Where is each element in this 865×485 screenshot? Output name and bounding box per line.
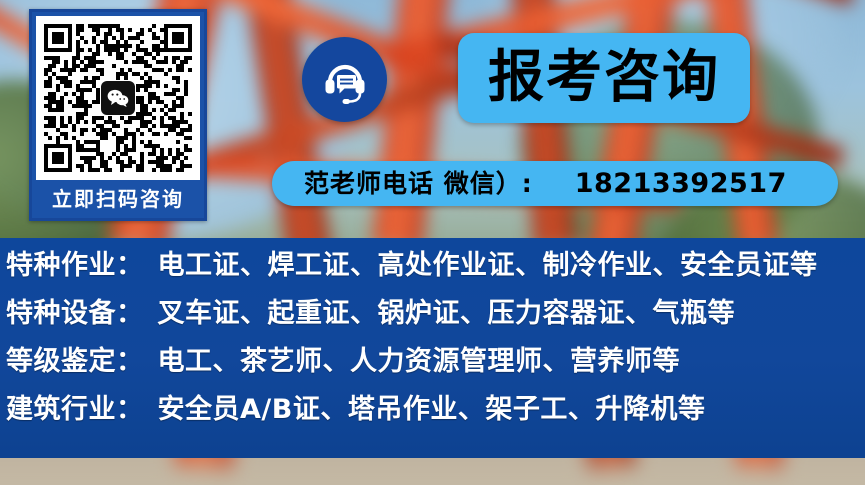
info-row: 特种作业： 电工证、焊工证、高处作业证、制冷作业、安全员证等 bbox=[0, 252, 865, 300]
info-row-items: 叉车证、起重证、锅炉证、压力容器证、气瓶等 bbox=[158, 300, 736, 327]
headset-support-icon bbox=[302, 37, 387, 122]
wechat-icon bbox=[101, 81, 135, 115]
info-row-items: 电工证、焊工证、高处作业证、制冷作业、安全员证等 bbox=[158, 252, 818, 279]
info-row: 建筑行业： 安全员A/B证、塔吊作业、架子工、升降机等 bbox=[0, 396, 865, 444]
contact-pill[interactable]: 范老师电话 微信）: 18213392517 bbox=[272, 161, 838, 206]
info-row-category: 特种设备： bbox=[6, 300, 144, 327]
info-row: 特种设备： 叉车证、起重证、锅炉证、压力容器证、气瓶等 bbox=[0, 300, 865, 348]
info-row-items: 电工、茶艺师、人力资源管理师、营养师等 bbox=[158, 348, 681, 375]
qr-code-image[interactable] bbox=[36, 16, 200, 180]
title-pill: 报考咨询 bbox=[458, 33, 750, 123]
promo-banner: 立即扫码咨询 报考咨询 范老师电话 微信）: 18213392517 bbox=[0, 0, 865, 485]
info-row-category: 等级鉴定： bbox=[6, 348, 144, 375]
info-row-category: 特种作业： bbox=[6, 252, 144, 279]
page-title: 报考咨询 bbox=[488, 50, 720, 106]
info-row: 等级鉴定： 电工、茶艺师、人力资源管理师、营养师等 bbox=[0, 348, 865, 396]
contact-label: 范老师电话 微信）: bbox=[304, 171, 533, 196]
contact-phone-number[interactable]: 18213392517 bbox=[575, 170, 787, 197]
qr-card-label: 立即扫码咨询 bbox=[32, 180, 204, 218]
certificate-list-panel: 特种作业： 电工证、焊工证、高处作业证、制冷作业、安全员证等 特种设备： 叉车证… bbox=[0, 238, 865, 458]
info-row-category: 建筑行业： bbox=[6, 396, 144, 423]
info-row-items: 安全员A/B证、塔吊作业、架子工、升降机等 bbox=[158, 396, 706, 423]
qr-code-card[interactable]: 立即扫码咨询 bbox=[29, 9, 207, 221]
